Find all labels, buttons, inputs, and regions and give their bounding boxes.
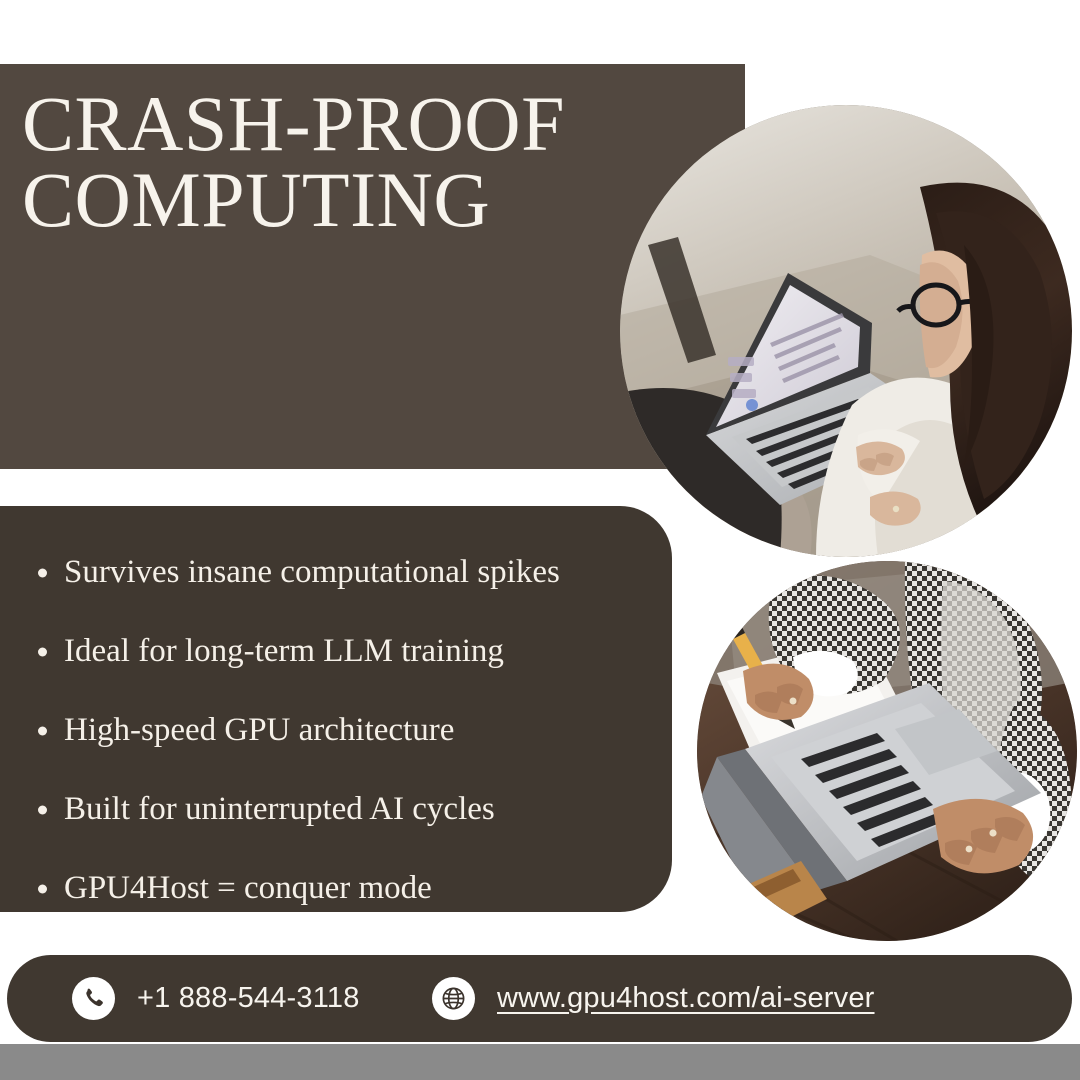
bullet-dot-icon <box>38 726 47 735</box>
photo-person-writing-notes-beside-laptop <box>697 561 1077 941</box>
features-card: Survives insane computational spikes Ide… <box>0 506 672 912</box>
bullet-dot-icon <box>38 805 47 814</box>
list-item: Ideal for long-term LLM training <box>0 612 660 691</box>
photo-woman-with-glasses-typing-on-laptop <box>620 105 1072 557</box>
page-title: CRASH-PROOF COMPUTING <box>22 86 712 237</box>
contact-footer-bar: +1 888-544-3118 www.gpu4host.com/ai-serv… <box>7 955 1072 1042</box>
photo-bottom-illustration <box>697 561 1077 941</box>
bottom-gray-bar <box>0 1044 1080 1080</box>
list-item-label: Built for uninterrupted AI cycles <box>64 793 495 826</box>
phone-icon <box>72 977 115 1020</box>
list-item-label: GPU4Host = conquer mode <box>64 872 432 905</box>
bullet-dot-icon <box>38 568 47 577</box>
website-url-label[interactable]: www.gpu4host.com/ai-server <box>497 982 875 1015</box>
globe-icon <box>432 977 475 1020</box>
list-item: Survives insane computational spikes <box>0 533 660 612</box>
poster-canvas: CRASH-PROOF COMPUTING <box>0 0 1080 1080</box>
list-item: Built for uninterrupted AI cycles <box>0 770 660 849</box>
photo-top-illustration <box>620 105 1072 557</box>
list-item-label: Ideal for long-term LLM training <box>64 635 504 668</box>
phone-number-label: +1 888-544-3118 <box>137 982 360 1015</box>
contact-phone[interactable]: +1 888-544-3118 <box>72 955 360 1042</box>
bullet-dot-icon <box>38 884 47 893</box>
bullet-dot-icon <box>38 647 47 656</box>
list-item: GPU4Host = conquer mode <box>0 849 660 928</box>
feature-list: Survives insane computational spikes Ide… <box>0 506 660 912</box>
contact-website[interactable]: www.gpu4host.com/ai-server <box>432 955 875 1042</box>
list-item: High-speed GPU architecture <box>0 691 660 770</box>
list-item-label: Survives insane computational spikes <box>64 556 560 589</box>
list-item-label: High-speed GPU architecture <box>64 714 454 747</box>
